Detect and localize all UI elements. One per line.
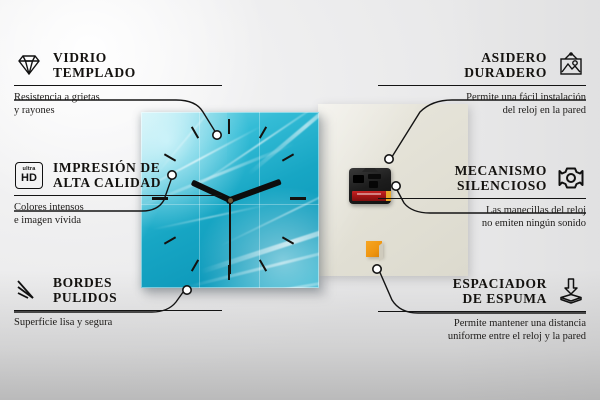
foam-spacer-part [366,241,382,257]
diamond-icon [14,51,44,79]
wall-hanger-frame-icon [556,51,586,79]
feature-title-line2: DE ESPUMA [462,291,547,306]
mechanism-slot [353,175,364,183]
feature-divider [378,198,586,199]
foam-spacer-arrow-icon [556,277,586,305]
infographic-canvas: VIDRIO TEMPLADO Resistencia a grietas y … [0,0,600,400]
ultra-hd-badge-icon: ultra HD [14,161,44,189]
clock-second-hand [229,198,231,274]
hd-badge-large-label: HD [21,173,37,184]
feature-vidrio-templado: VIDRIO TEMPLADO Resistencia a grietas y … [14,50,222,117]
feature-divider [378,311,586,312]
feature-espaciador-de-espuma: ESPACIADOR DE ESPUMA Permite mantener un… [378,276,586,343]
feature-desc-line1: Superficie lisa y segura [14,317,112,328]
feature-title-line2: TEMPLADO [53,65,136,80]
feature-title-line1: IMPRESIÓN DE [53,160,160,175]
feature-title-line2: DURADERO [464,65,547,80]
feature-divider [378,85,586,86]
feature-desc-line2: uniforme entre el reloj y la pared [448,331,586,342]
hour-marker-12 [228,119,230,134]
feature-divider [14,85,222,86]
feature-title-line1: VIDRIO [53,50,107,65]
mechanism-slot [369,181,378,188]
feature-desc-line2: e imagen vívida [14,215,81,226]
mechanism-hanger-tab [362,168,378,172]
feature-title-line2: ALTA CALIDAD [53,175,161,190]
feature-desc-line1: Colores intensos [14,202,84,213]
feature-title: ASIDERO DURADERO [464,50,547,80]
feature-description: Permite mantener una distancia uniforme … [378,317,586,343]
hour-marker-2 [282,153,294,161]
feature-title: MECANISMO SILENCIOSO [455,163,547,193]
hour-marker-1 [259,126,267,138]
feature-desc-line1: Permite mantener una distancia [454,318,586,329]
feature-desc-line2: no emiten ningún sonido [482,218,586,229]
clock-center-cap [228,198,233,203]
hour-marker-7 [191,259,199,271]
feature-desc-line1: Las manecillas del reloj [486,205,586,216]
feature-description: Colores intensos e imagen vívida [14,201,222,227]
polished-edges-icon [14,276,44,304]
feature-title-line1: ASIDERO [481,50,547,65]
feature-description: Las manecillas del reloj no emiten ningú… [378,204,586,230]
feature-title-line1: ESPACIADOR [453,276,547,291]
feature-title: BORDES PULIDOS [53,275,117,305]
feature-bordes-pulidos: BORDES PULIDOS Superficie lisa y segura [14,275,222,329]
feature-divider [14,195,222,196]
hour-marker-3 [290,197,306,200]
feature-title-line1: MECANISMO [455,163,547,178]
feature-title: VIDRIO TEMPLADO [53,50,136,80]
feature-divider [14,310,222,311]
feature-mecanismo-silencioso: MECANISMO SILENCIOSO Las manecillas del … [378,163,586,230]
feature-title-line2: SILENCIOSO [457,178,547,193]
gear-icon [556,164,586,192]
feature-impresion-alta-calidad: ultra HD IMPRESIÓN DE ALTA CALIDAD Color… [14,160,222,227]
feature-description: Permite una fácil instalación del reloj … [378,91,586,117]
feature-desc-line2: y rayones [14,105,55,116]
feature-description: Superficie lisa y segura [14,316,222,329]
feature-title: ESPACIADOR DE ESPUMA [453,276,547,306]
feature-title: IMPRESIÓN DE ALTA CALIDAD [53,160,161,190]
feature-description: Resistencia a grietas y rayones [14,91,222,117]
feature-desc-line1: Resistencia a grietas [14,92,100,103]
feature-desc-line1: Permite una fácil instalación [466,92,586,103]
feature-title-line2: PULIDOS [53,290,117,305]
feature-asidero-duradero: ASIDERO DURADERO Permite una fácil insta… [378,50,586,117]
feature-desc-line2: del reloj en la pared [503,105,586,116]
hour-marker-8 [164,236,176,244]
feature-title-line1: BORDES [53,275,112,290]
